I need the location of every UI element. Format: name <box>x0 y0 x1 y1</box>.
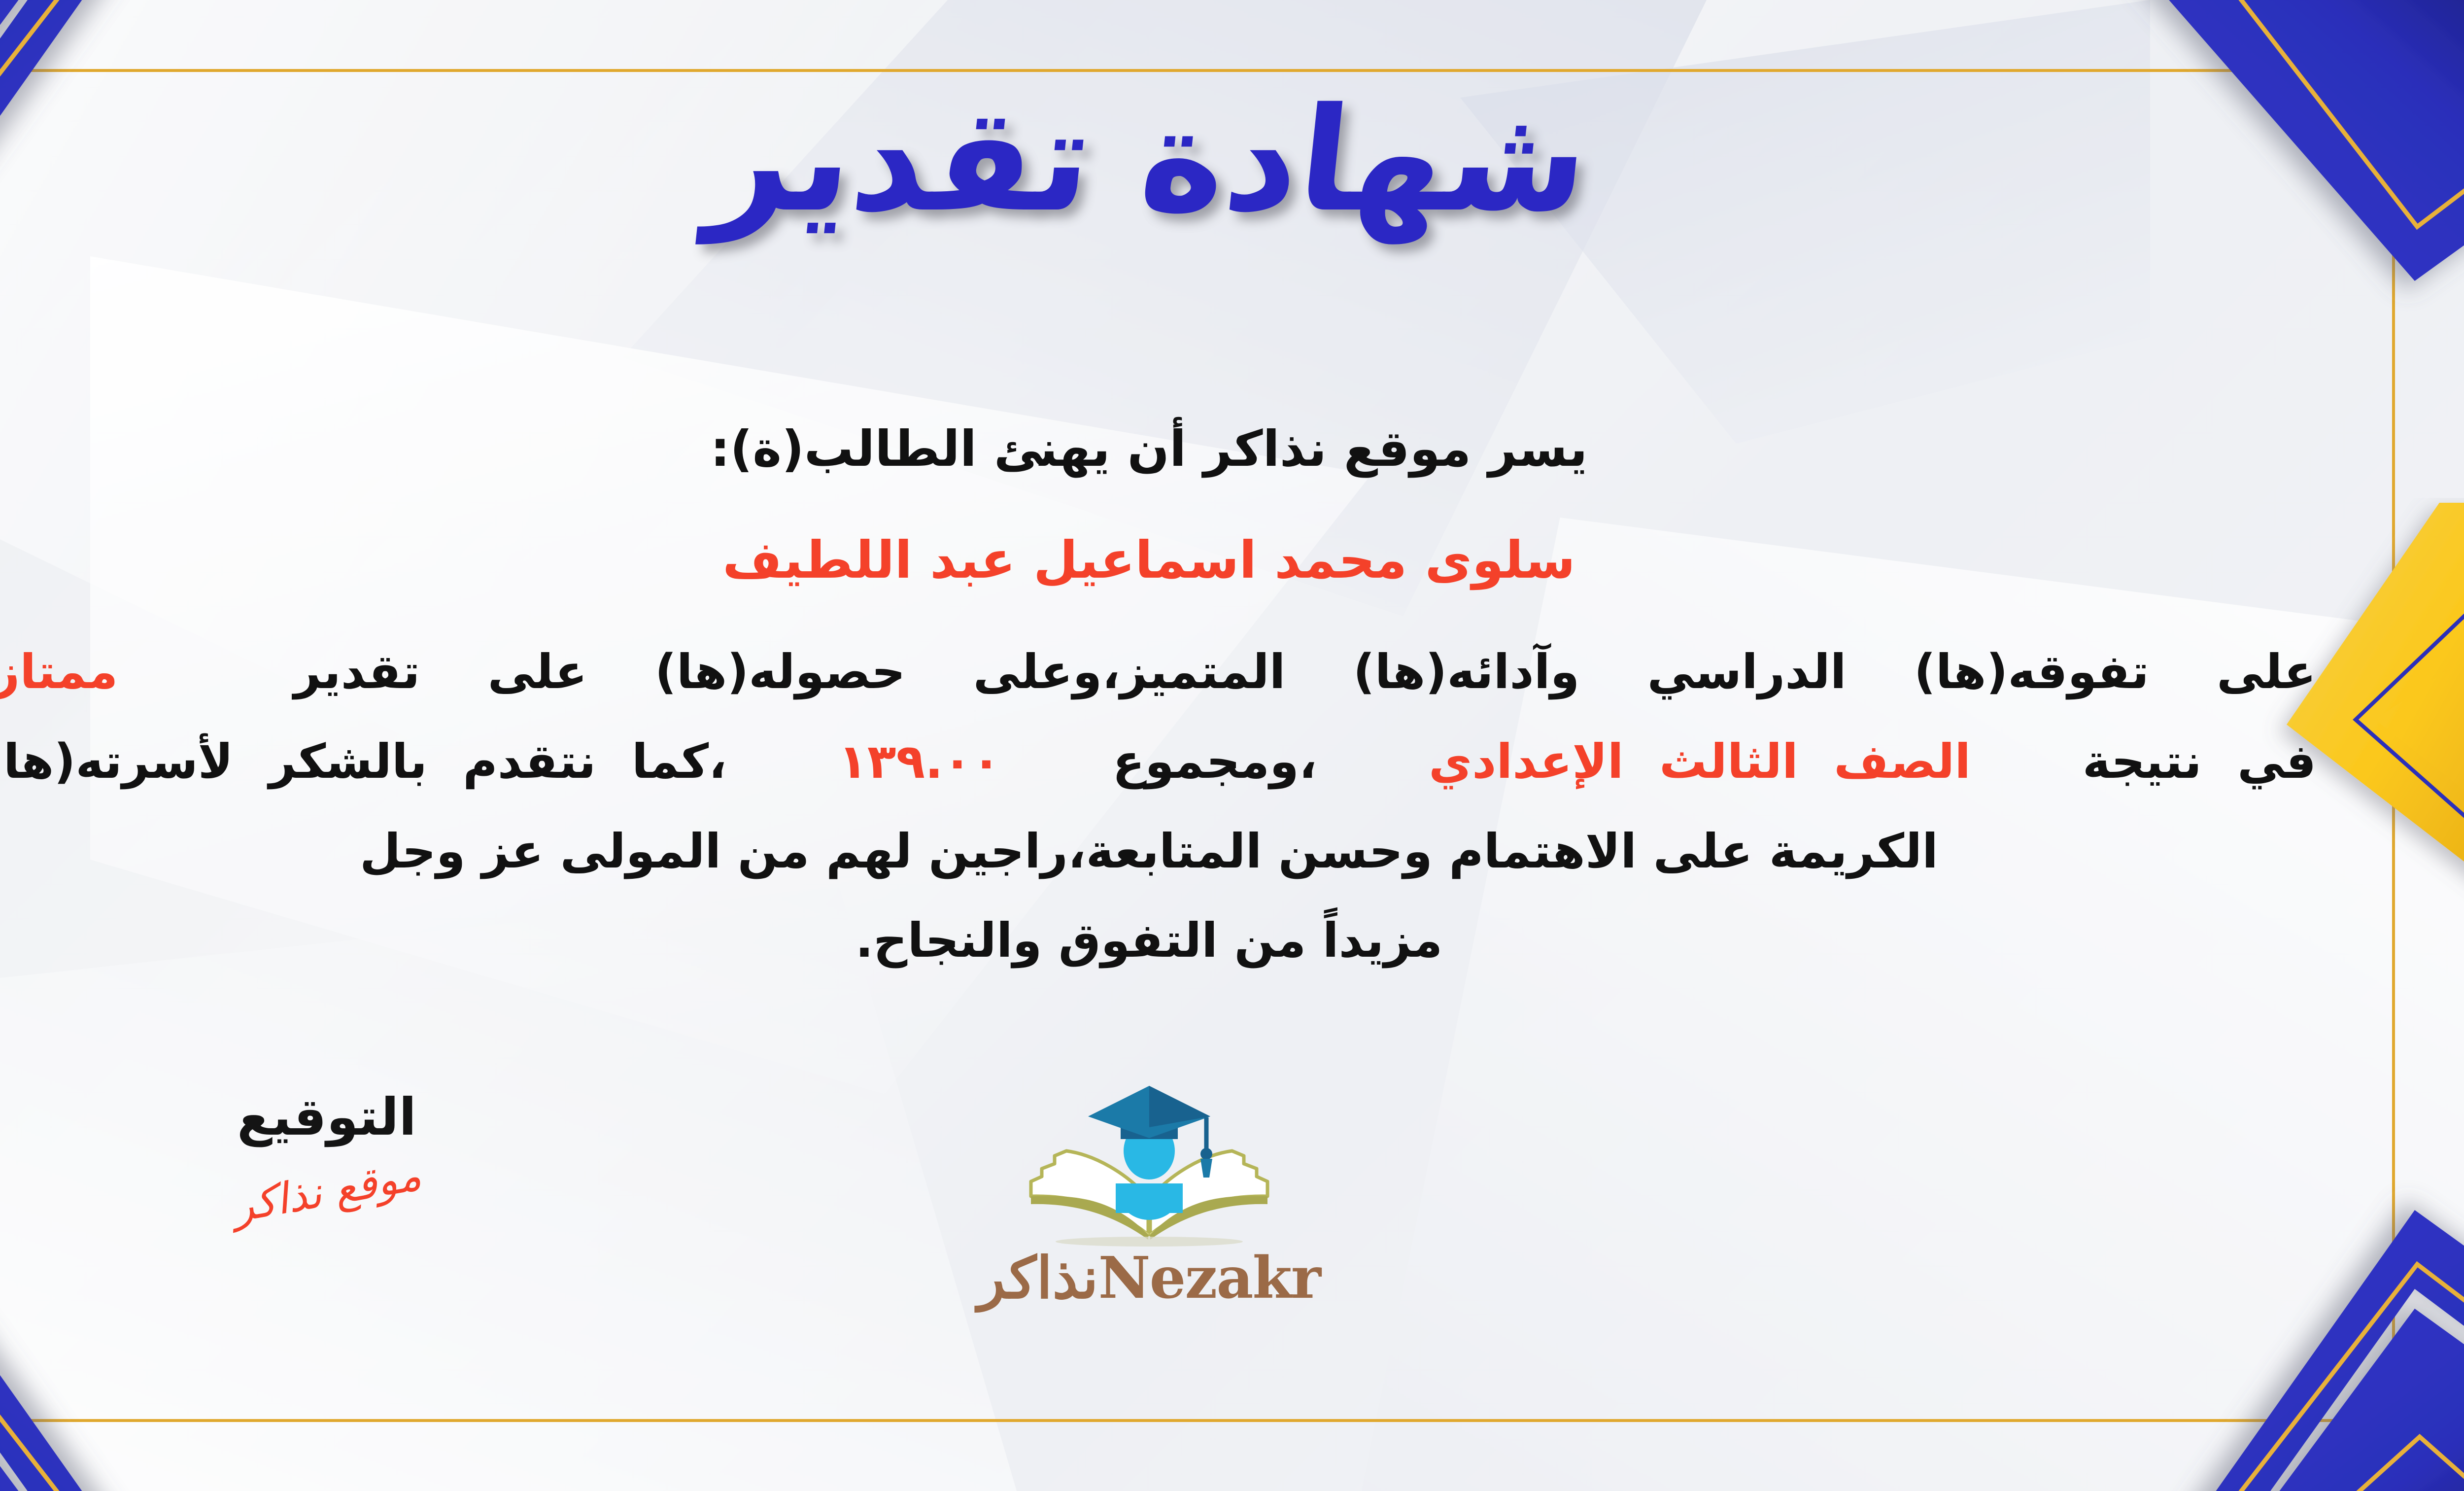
total-score-value: ١٣٩.٠٠ <box>827 734 1011 789</box>
thanks-prefix: ،كما نتقدم بالشكر لأسرته(ها) <box>0 734 727 789</box>
page-title: شهادة تقدير <box>701 71 1597 250</box>
achievement-text: على تفوقه(ها) الدراسي وآدائه(ها) المتميز… <box>294 644 2316 699</box>
brand-logo: Nezakrنذاكر <box>962 1072 1336 1312</box>
student-name: سلوى محمد اسماعيل عبد اللطيف <box>0 519 2316 601</box>
total-label: ،ومجموع <box>1112 734 1317 789</box>
intro-line: يسر موقع نذاكر أن يهنئ الطالب(ة): <box>0 409 2316 489</box>
class-name-value: الصف الثالث الإعدادي <box>1418 734 1982 789</box>
certificate-body: يسر موقع نذاكر أن يهنئ الطالب(ة): سلوى م… <box>0 409 2316 992</box>
class-and-score-line: في نتيجة الصف الثالث الإعدادي ،ومجموع ١٣… <box>0 724 2316 800</box>
graduation-book-logo-icon <box>1011 1072 1287 1249</box>
certificate-title-area: شهادة تقدير <box>0 71 2464 250</box>
family-thanks-line: الكريمة على الاهتمام وحسن المتابعة،راجين… <box>0 813 2316 890</box>
signature-label: التوقيع <box>169 1087 484 1147</box>
closing-line: مزيداً من التفوق والنجاح. <box>0 902 2316 979</box>
certificate-page: شهادة تقدير يسر موقع نذاكر أن يهنئ الطال… <box>0 0 2464 1491</box>
certificate-footer: التوقيع موقع نذاكر <box>0 1087 2336 1392</box>
achievement-line: على تفوقه(ها) الدراسي وآدائه(ها) المتميز… <box>0 634 2316 711</box>
result-prefix: في نتيجة <box>2083 734 2316 789</box>
grade-value: ممتاز <box>0 644 129 699</box>
brand-logo-text: Nezakrنذاكر <box>962 1245 1336 1312</box>
signature-value: موقع نذاكر <box>229 1150 425 1232</box>
signature-block: التوقيع موقع نذاكر <box>169 1087 484 1216</box>
